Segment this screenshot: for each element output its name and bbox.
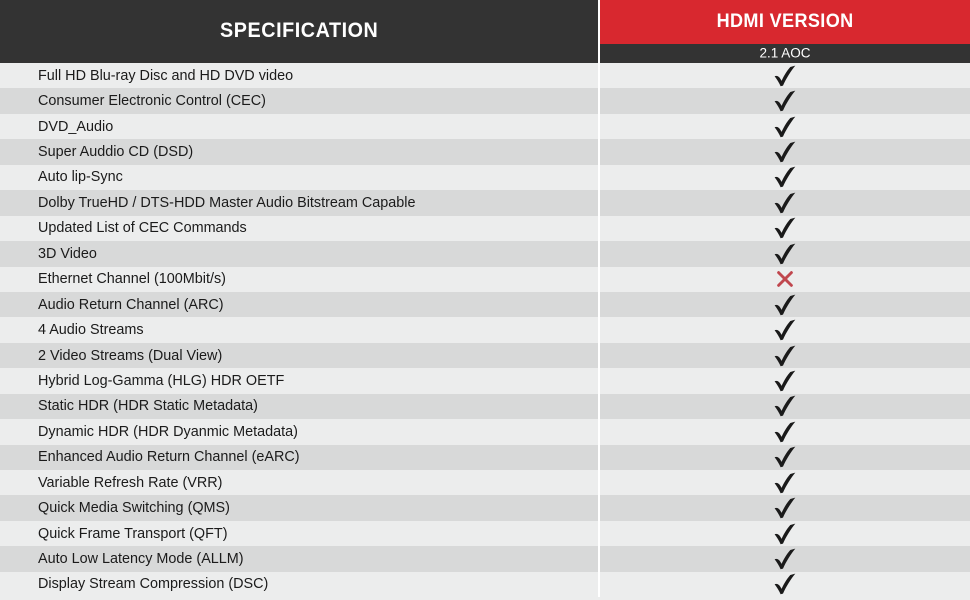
table-row: DVD_Audio — [0, 114, 970, 139]
table-row: Enhanced Audio Return Channel (eARC) — [0, 445, 970, 470]
check-icon — [773, 446, 797, 468]
support-status-cell — [600, 546, 970, 571]
check-icon — [773, 116, 797, 138]
table-row: Updated List of CEC Commands — [0, 216, 970, 241]
hdmi-specification-table: SPECIFICATION HDMI VERSION 2.1 AOC Full … — [0, 0, 970, 600]
check-icon — [773, 370, 797, 392]
specification-label: Quick Frame Transport (QFT) — [38, 526, 228, 540]
support-status-cell — [600, 165, 970, 190]
specification-label: Dolby TrueHD / DTS-HDD Master Audio Bits… — [38, 196, 415, 210]
specification-label: Static HDR (HDR Static Metadata) — [38, 399, 258, 413]
table-row: Super Auddio CD (DSD) — [0, 139, 970, 164]
support-status-cell — [600, 368, 970, 393]
support-status-cell — [600, 292, 970, 317]
specification-label: Quick Media Switching (QMS) — [38, 501, 230, 515]
table-body: Full HD Blu-ray Disc and HD DVD videoCon… — [0, 63, 970, 597]
table-row: Consumer Electronic Control (CEC) — [0, 88, 970, 113]
support-status-cell — [600, 114, 970, 139]
support-status-cell — [600, 241, 970, 266]
check-icon — [773, 90, 797, 112]
specification-label: Updated List of CEC Commands — [38, 221, 247, 235]
check-icon — [773, 319, 797, 341]
table-row: Ethernet Channel (100Mbit/s) — [0, 267, 970, 292]
support-status-cell — [600, 495, 970, 520]
table-row: Audio Return Channel (ARC) — [0, 292, 970, 317]
table-row: 4 Audio Streams — [0, 317, 970, 342]
check-icon — [773, 294, 797, 316]
table-row: Quick Media Switching (QMS) — [0, 495, 970, 520]
check-icon — [773, 421, 797, 443]
support-status-cell — [600, 139, 970, 164]
check-icon — [773, 345, 797, 367]
table-row: Static HDR (HDR Static Metadata) — [0, 394, 970, 419]
check-icon — [773, 548, 797, 570]
table-row: 2 Video Streams (Dual View) — [0, 343, 970, 368]
table-row: Full HD Blu-ray Disc and HD DVD video — [0, 63, 970, 88]
support-status-cell — [600, 572, 970, 597]
specification-label: Full HD Blu-ray Disc and HD DVD video — [38, 69, 293, 83]
support-status-cell — [600, 63, 970, 88]
cross-icon — [776, 270, 794, 288]
support-status-cell — [600, 521, 970, 546]
specification-label: Auto lip-Sync — [38, 170, 123, 184]
support-status-cell — [600, 267, 970, 292]
specification-label: Hybrid Log-Gamma (HLG) HDR OETF — [38, 374, 284, 388]
header-column-divider — [598, 0, 600, 63]
specification-label: Ethernet Channel (100Mbit/s) — [38, 272, 226, 286]
check-icon — [773, 65, 797, 87]
column-header-specification: SPECIFICATION — [0, 0, 598, 63]
specification-label: 3D Video — [38, 247, 97, 261]
check-icon — [773, 217, 797, 239]
hdmi-version-header-label: HDMI VERSION — [717, 12, 854, 31]
specification-label: Display Stream Compression (DSC) — [38, 577, 268, 591]
support-status-cell — [600, 317, 970, 342]
table-row: Dynamic HDR (HDR Dyanmic Metadata) — [0, 419, 970, 444]
support-status-cell — [600, 190, 970, 215]
specification-header-label: SPECIFICATION — [220, 20, 378, 41]
specification-label: Auto Low Latency Mode (ALLM) — [38, 552, 244, 566]
specification-label: Enhanced Audio Return Channel (eARC) — [38, 450, 300, 464]
check-icon — [773, 573, 797, 595]
table-row: Quick Frame Transport (QFT) — [0, 521, 970, 546]
table-header: SPECIFICATION HDMI VERSION 2.1 AOC — [0, 0, 970, 63]
specification-label: Consumer Electronic Control (CEC) — [38, 94, 266, 108]
support-status-cell — [600, 343, 970, 368]
table-row: Auto lip-Sync — [0, 165, 970, 190]
check-icon — [773, 166, 797, 188]
hdmi-version-subheader-label: 2.1 AOC — [759, 46, 810, 60]
check-icon — [773, 497, 797, 519]
specification-label: DVD_Audio — [38, 119, 113, 133]
support-status-cell — [600, 394, 970, 419]
support-status-cell — [600, 445, 970, 470]
check-icon — [773, 192, 797, 214]
specification-label: Super Auddio CD (DSD) — [38, 145, 193, 159]
table-row: Dolby TrueHD / DTS-HDD Master Audio Bits… — [0, 190, 970, 215]
check-icon — [773, 141, 797, 163]
table-row: 3D Video — [0, 241, 970, 266]
table-row: Auto Low Latency Mode (ALLM) — [0, 546, 970, 571]
support-status-cell — [600, 470, 970, 495]
table-row: Variable Refresh Rate (VRR) — [0, 470, 970, 495]
support-status-cell — [600, 419, 970, 444]
specification-label: 2 Video Streams (Dual View) — [38, 348, 222, 362]
specification-label: 4 Audio Streams — [38, 323, 144, 337]
table-row: Display Stream Compression (DSC) — [0, 572, 970, 597]
table-row: Hybrid Log-Gamma (HLG) HDR OETF — [0, 368, 970, 393]
specification-label: Variable Refresh Rate (VRR) — [38, 476, 222, 490]
check-icon — [773, 395, 797, 417]
specification-label: Dynamic HDR (HDR Dyanmic Metadata) — [38, 425, 298, 439]
support-status-cell — [600, 88, 970, 113]
check-icon — [773, 472, 797, 494]
check-icon — [773, 523, 797, 545]
specification-label: Audio Return Channel (ARC) — [38, 297, 224, 311]
column-subheader-hdmi-version: 2.1 AOC — [600, 44, 970, 63]
column-header-hdmi-version: HDMI VERSION — [600, 0, 970, 44]
support-status-cell — [600, 216, 970, 241]
check-icon — [773, 243, 797, 265]
